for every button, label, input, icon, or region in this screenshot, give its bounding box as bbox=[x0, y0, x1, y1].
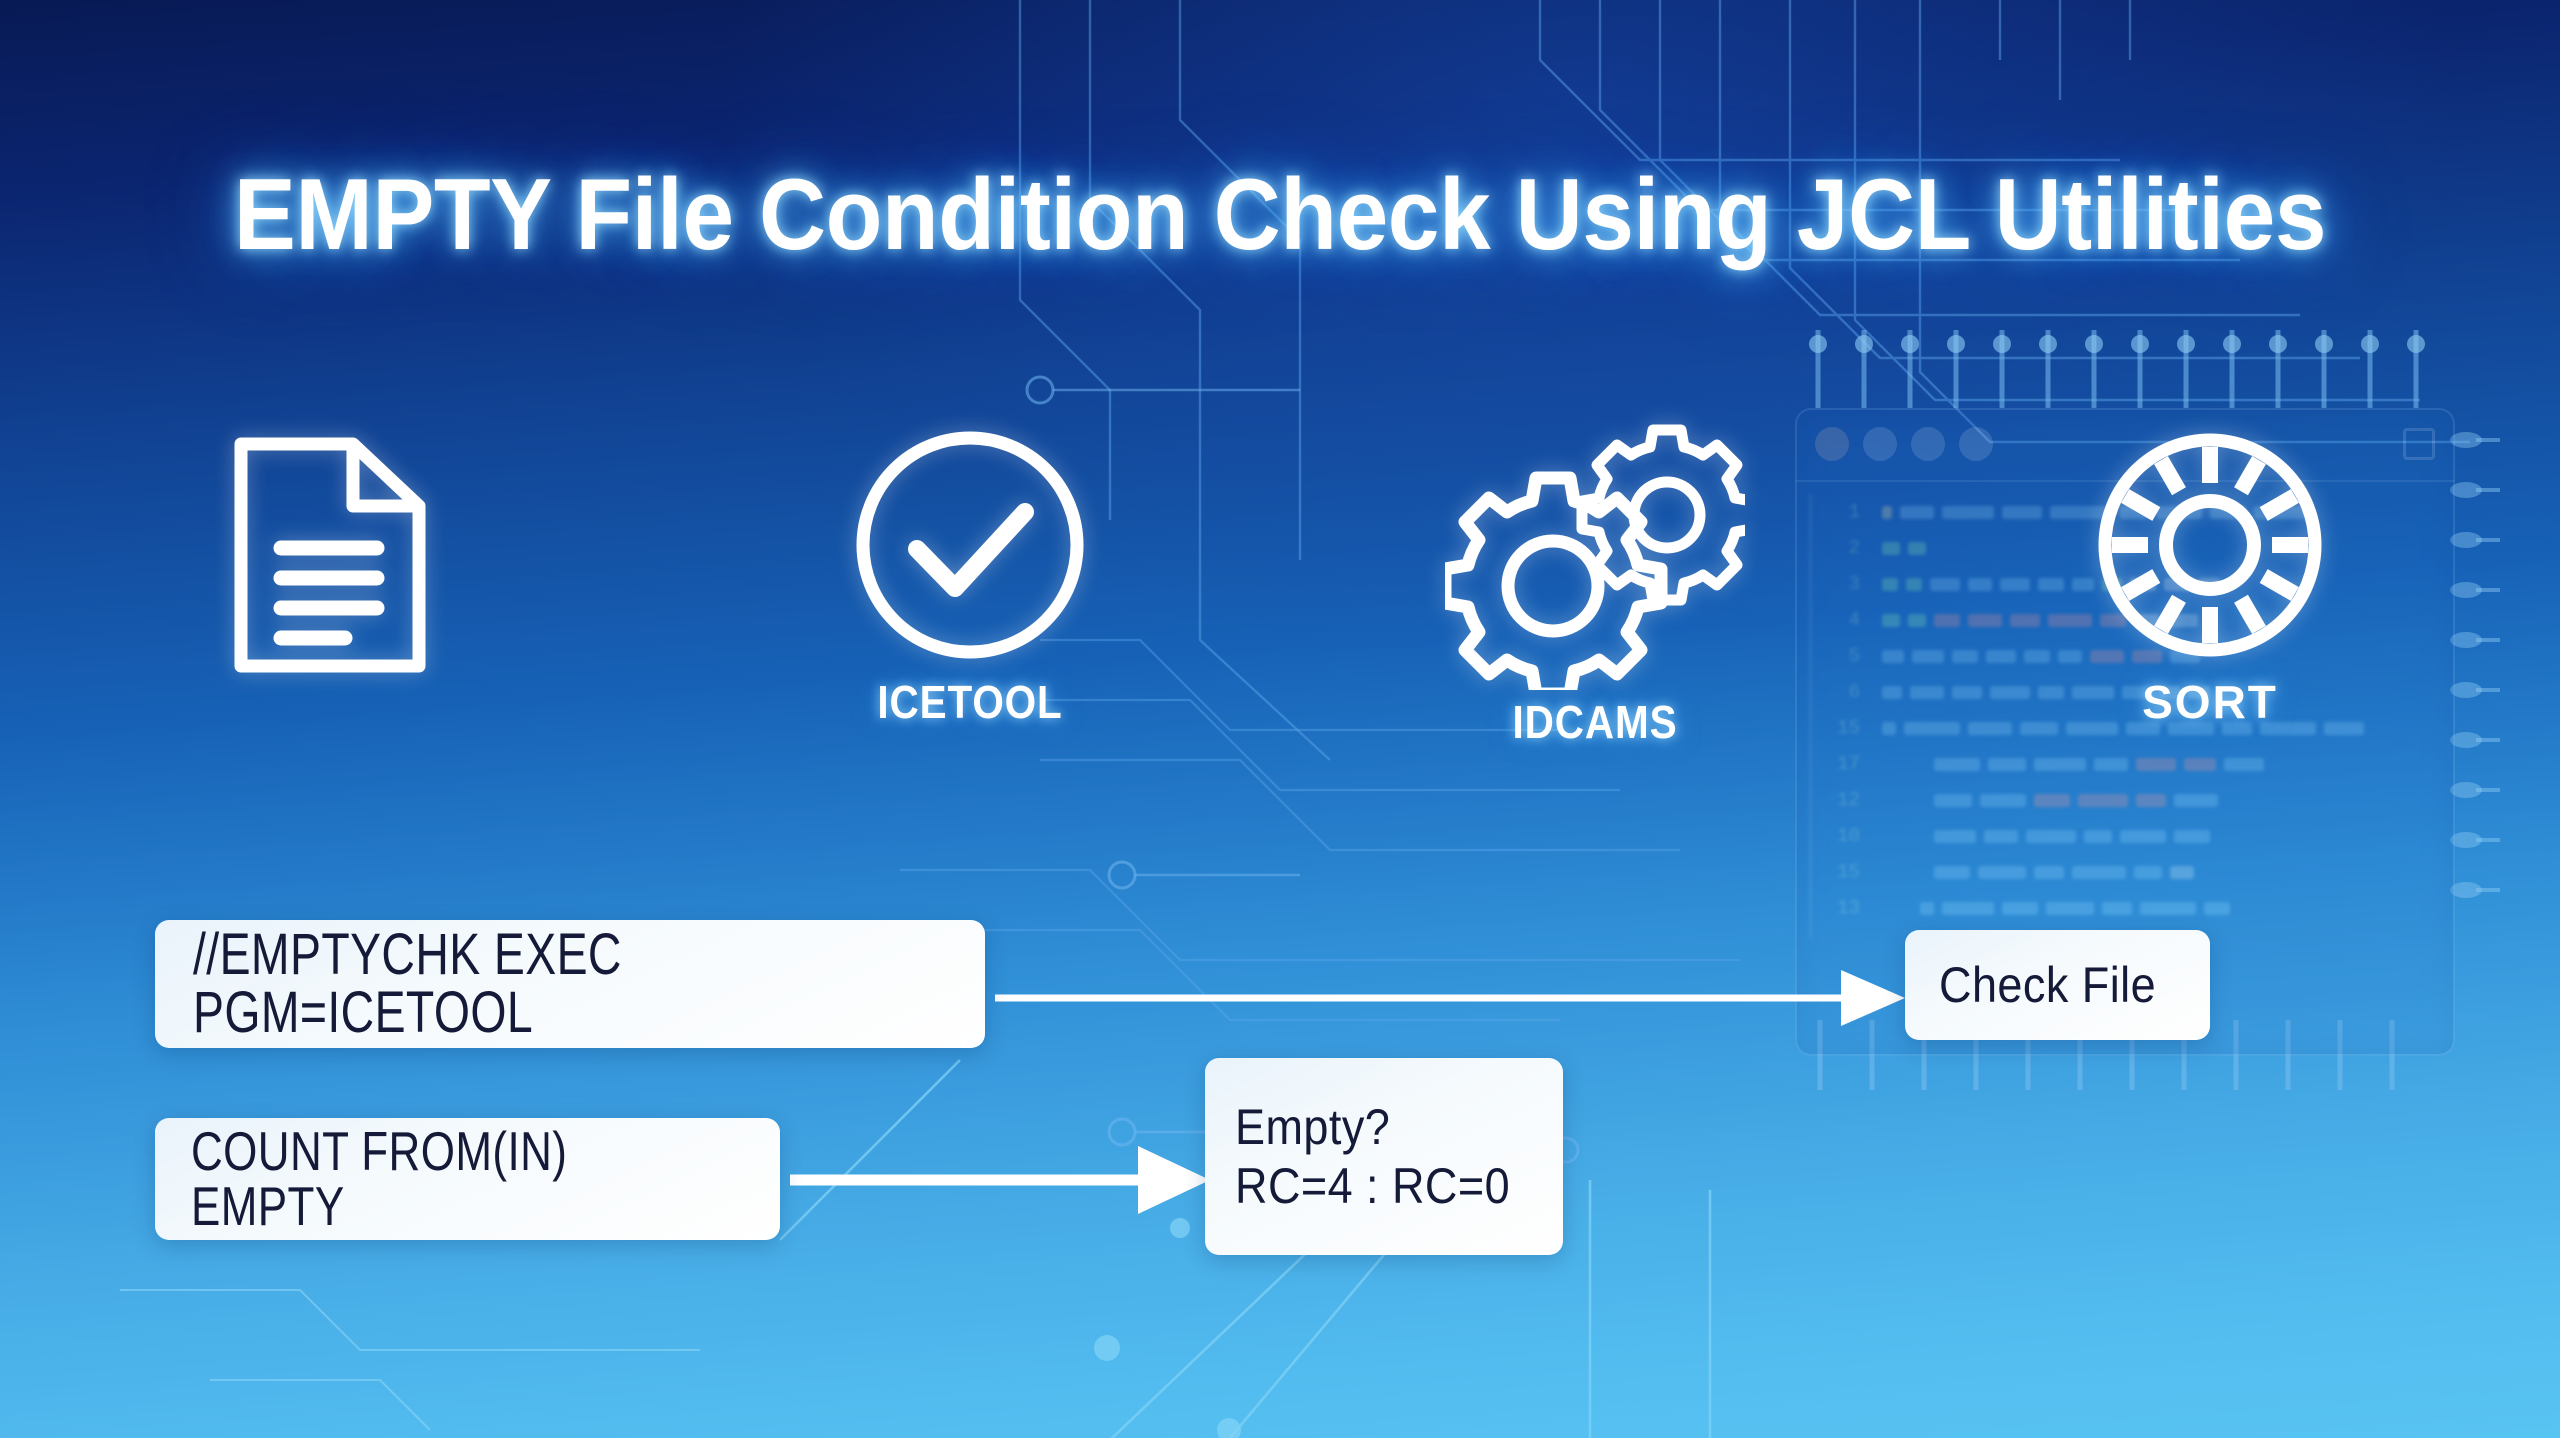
line-number: 15 bbox=[1830, 717, 1882, 739]
document-icon bbox=[225, 430, 435, 680]
idcams-icon-group: IDCAMS bbox=[1395, 410, 1795, 749]
window-dot-icon bbox=[1815, 427, 1849, 461]
window-dot-icon bbox=[1863, 427, 1897, 461]
code-line: 13 bbox=[1830, 890, 2441, 926]
line-number: 12 bbox=[1830, 789, 1882, 811]
page-title: EMPTY File Condition Check Using JCL Uti… bbox=[102, 165, 2457, 266]
idcams-label: IDCAMS bbox=[1419, 695, 1771, 749]
document-icon-group bbox=[180, 430, 480, 685]
sort-icon-group: SORT bbox=[1960, 420, 2460, 729]
gears-icon bbox=[1445, 410, 1745, 690]
code-line: 12 bbox=[1830, 782, 2441, 818]
arrow-count-to-result bbox=[790, 1140, 1210, 1220]
line-number: 15 bbox=[1830, 861, 1882, 883]
line-number: 6 bbox=[1830, 681, 1882, 703]
line-number: 1 bbox=[1830, 501, 1882, 523]
line-number: 4 bbox=[1830, 609, 1882, 631]
line-number: 5 bbox=[1830, 645, 1882, 667]
return-code-result-text: Empty? RC=4 : RC=0 bbox=[1235, 1098, 1510, 1216]
gear-icon bbox=[2085, 420, 2335, 670]
return-code-result-card[interactable]: Empty? RC=4 : RC=0 bbox=[1205, 1058, 1563, 1255]
infographic-canvas: EMPTY File Condition Check Using JCL Uti… bbox=[0, 0, 2560, 1438]
check-file-card[interactable]: Check File bbox=[1905, 930, 2210, 1040]
icetool-count-statement-text: COUNT FROM(IN) EMPTY bbox=[191, 1124, 662, 1234]
icetool-count-statement-card[interactable]: COUNT FROM(IN) EMPTY bbox=[155, 1118, 780, 1240]
line-number: 17 bbox=[1830, 753, 1882, 775]
line-number: 10 bbox=[1830, 825, 1882, 847]
line-number: 3 bbox=[1830, 573, 1882, 595]
code-line: 10 bbox=[1830, 818, 2441, 854]
code-line: 17 bbox=[1830, 746, 2441, 782]
icetool-icon-group: ICETOOL bbox=[770, 420, 1170, 729]
arrow-exec-to-check bbox=[995, 962, 1905, 1034]
icetool-label: ICETOOL bbox=[794, 675, 1146, 729]
line-number: 13 bbox=[1830, 897, 1882, 919]
code-line: 15 bbox=[1830, 854, 2441, 890]
jcl-exec-statement-text: //EMPTYCHK EXEC PGM=ICETOOL bbox=[193, 926, 827, 1042]
sort-label: SORT bbox=[1960, 675, 2460, 729]
line-number: 2 bbox=[1830, 537, 1882, 559]
window-dot-icon bbox=[1911, 427, 1945, 461]
check-circle-icon bbox=[845, 420, 1095, 670]
check-file-text: Check File bbox=[1939, 960, 2156, 1010]
jcl-exec-statement-card[interactable]: //EMPTYCHK EXEC PGM=ICETOOL bbox=[155, 920, 985, 1048]
